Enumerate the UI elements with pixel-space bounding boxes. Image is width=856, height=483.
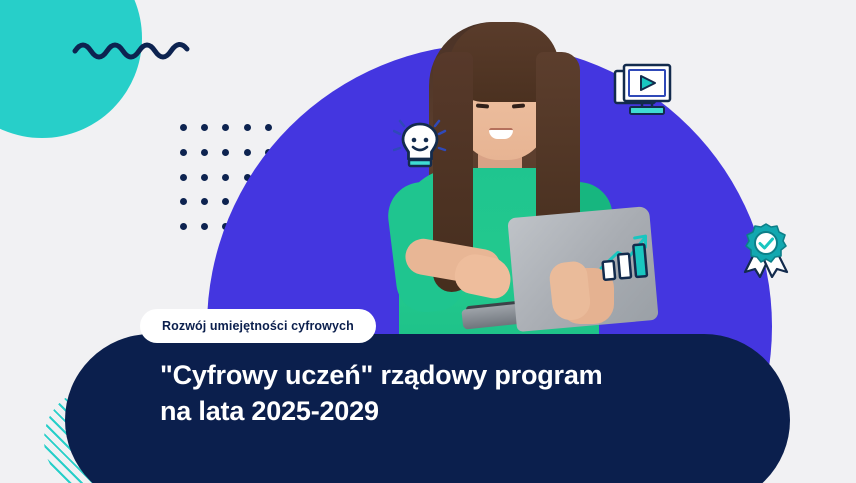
award-check-icon xyxy=(740,222,792,278)
monitor-play-icon xyxy=(612,62,674,124)
smile-mouth xyxy=(489,128,513,139)
lightbulb-smile-icon xyxy=(393,118,449,174)
category-badge: Rozwój umiejętności cyfrowych xyxy=(140,309,376,343)
page-title: "Cyfrowy uczeń" rządowy program na lata … xyxy=(160,358,760,429)
category-badge-label: Rozwój umiejętności cyfrowych xyxy=(162,319,354,333)
bar-chart-growth-icon xyxy=(594,226,654,283)
promo-banner: Rozwój umiejętności cyfrowych "Cyfrowy u… xyxy=(0,0,856,483)
hand-right xyxy=(548,260,592,322)
